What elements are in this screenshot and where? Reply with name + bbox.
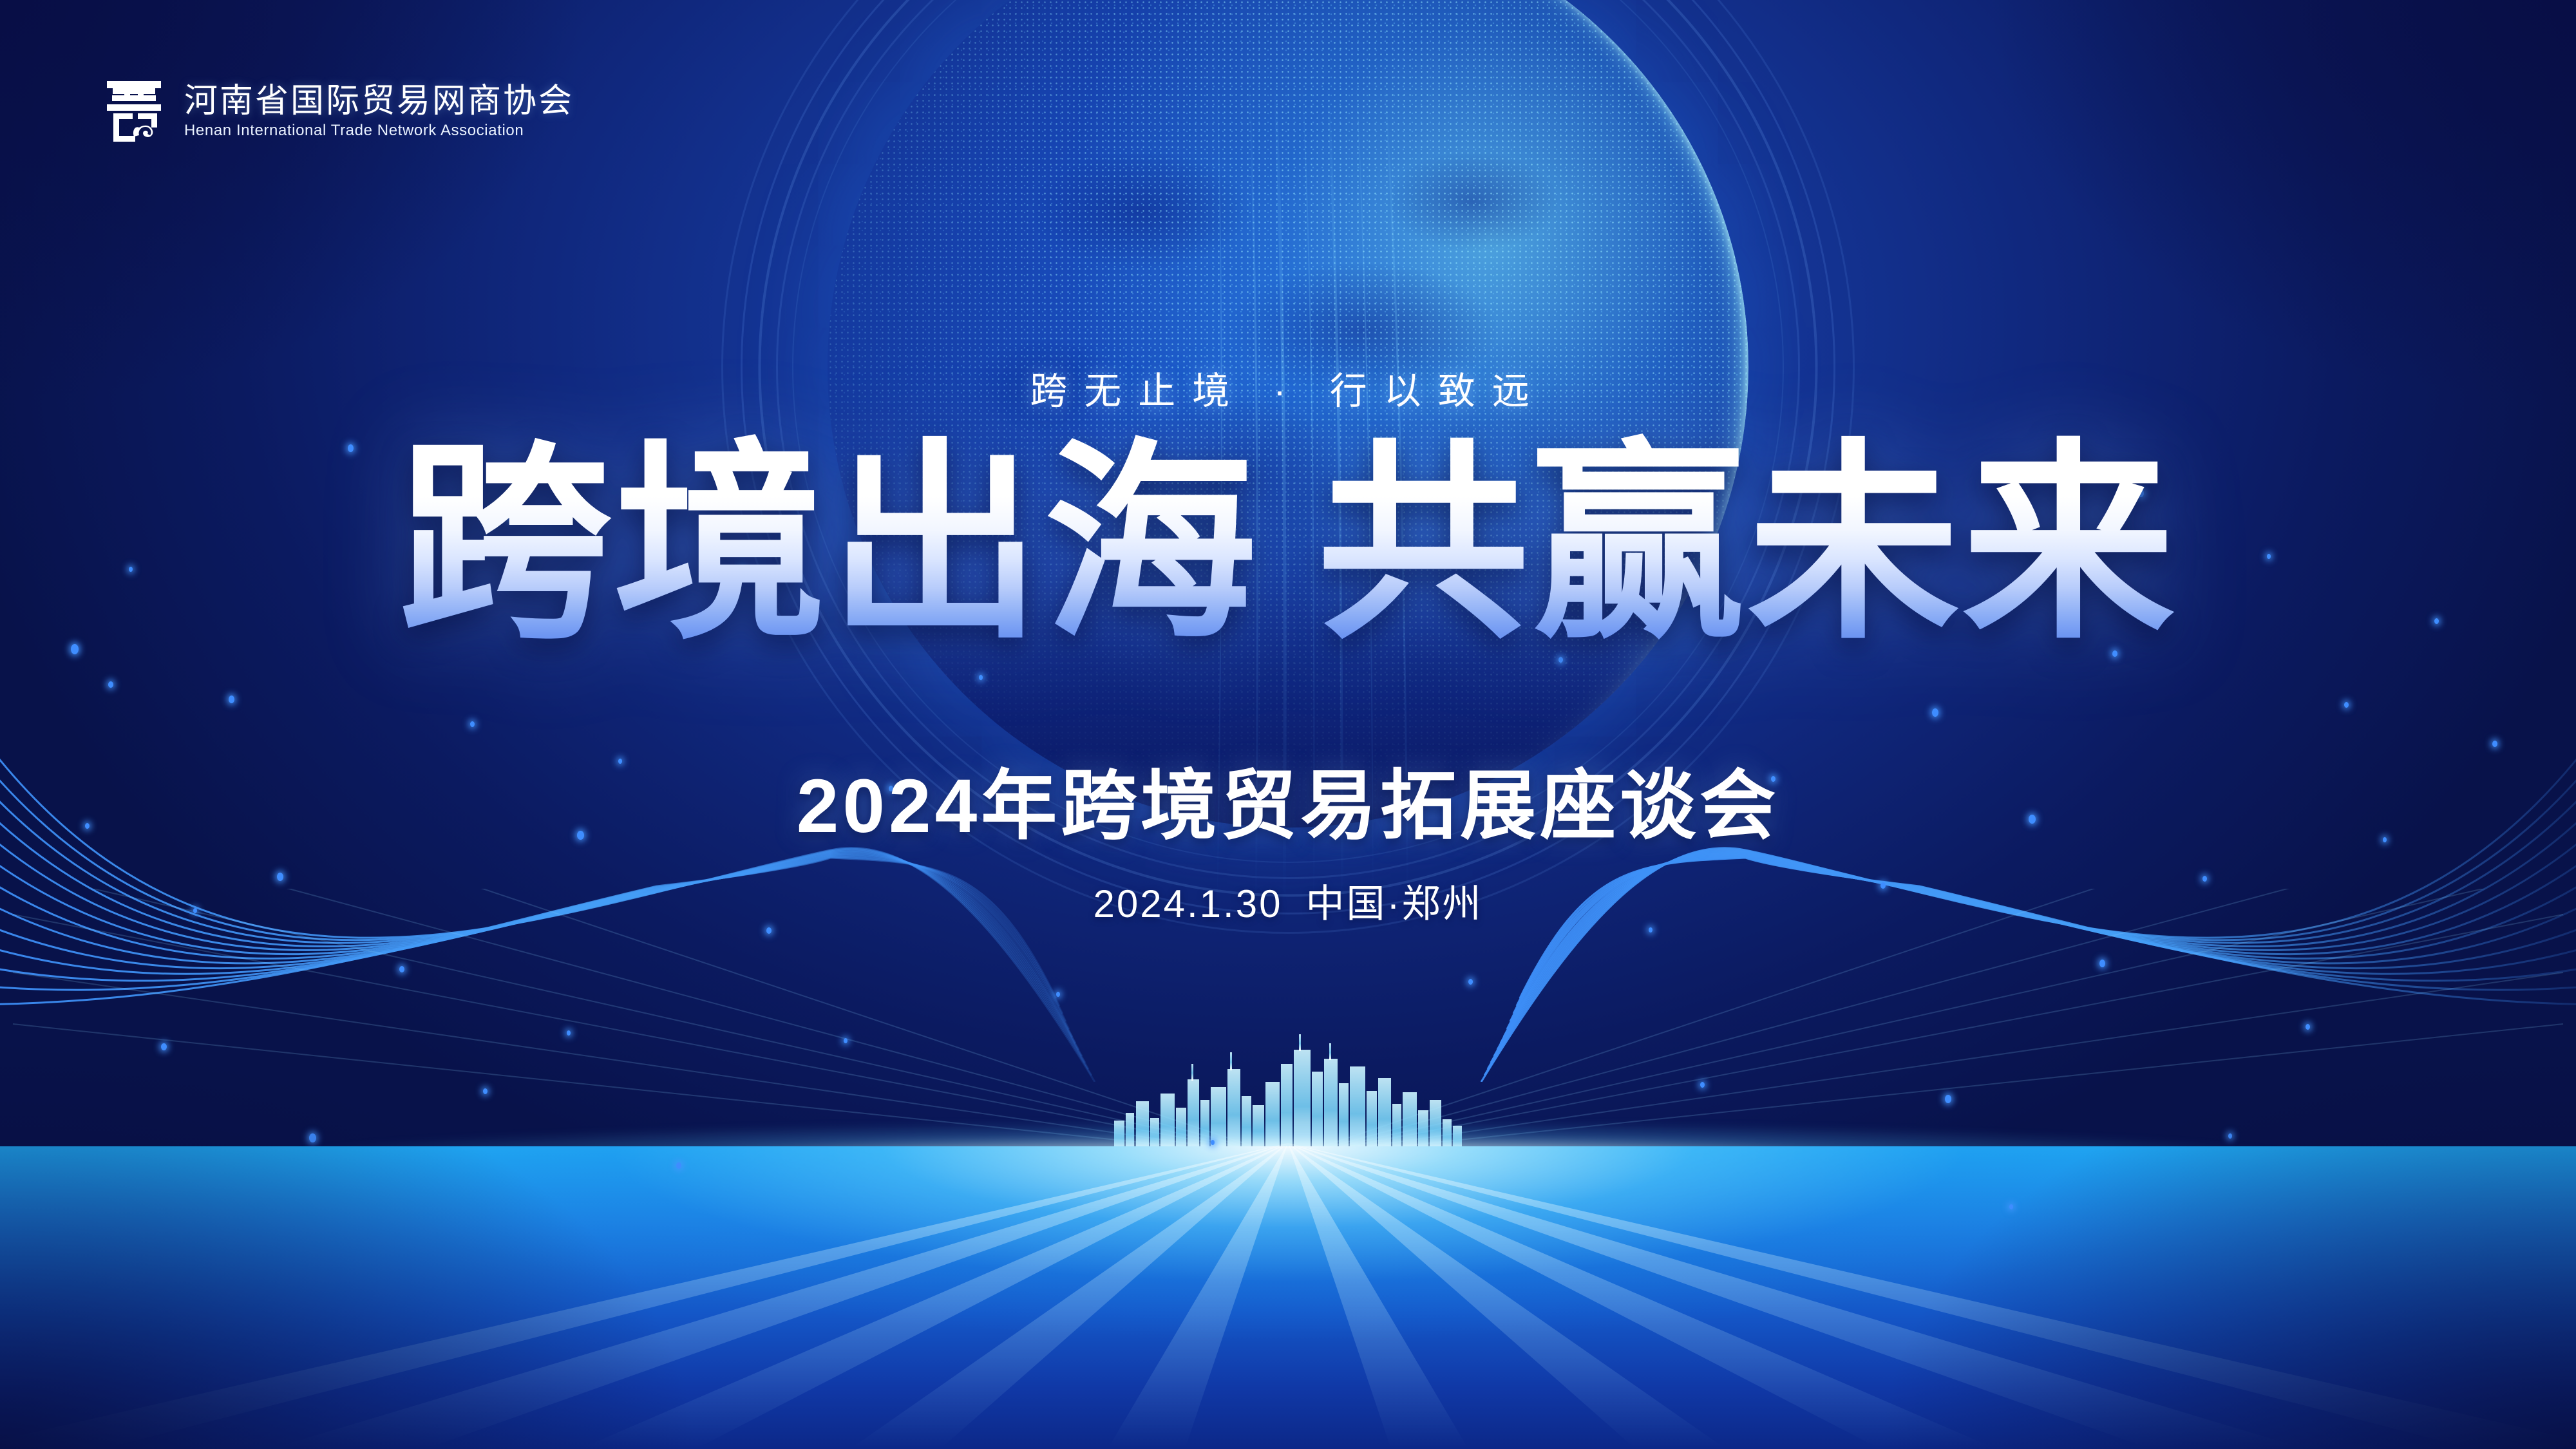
event-subtitle: 2024年跨境贸易拓展座谈会: [0, 744, 2576, 854]
main-title-stage: 跨境出海共赢未来: [0, 425, 2576, 663]
event-location: 中国·郑州: [1305, 882, 1482, 925]
logo-name-cn: 河南省国际贸易网商协会: [184, 84, 574, 118]
logo-text-block: 河南省国际贸易网商协会 Henan International Trade Ne…: [184, 84, 574, 138]
ground-light-rays: [0, 1108, 2576, 1449]
event-date: 2024.1.30: [1094, 882, 1283, 925]
event-dateline: 2024.1.30中国·郑州: [0, 873, 2576, 929]
association-seal-icon: [103, 76, 165, 147]
poster-canvas: 河南省国际贸易网商协会 Henan International Trade Ne…: [0, 0, 2576, 1449]
association-logo[interactable]: 河南省国际贸易网商协会 Henan International Trade Ne…: [103, 76, 574, 147]
main-title-part-2: 共赢未来: [1317, 425, 2177, 663]
event-tagline: 跨无止境 · 行以致远: [0, 361, 2576, 415]
logo-name-en: Henan International Trade Network Associ…: [184, 123, 574, 138]
main-title-part-1: 跨境出海: [399, 425, 1259, 663]
main-title: 跨境出海共赢未来: [399, 425, 2177, 663]
